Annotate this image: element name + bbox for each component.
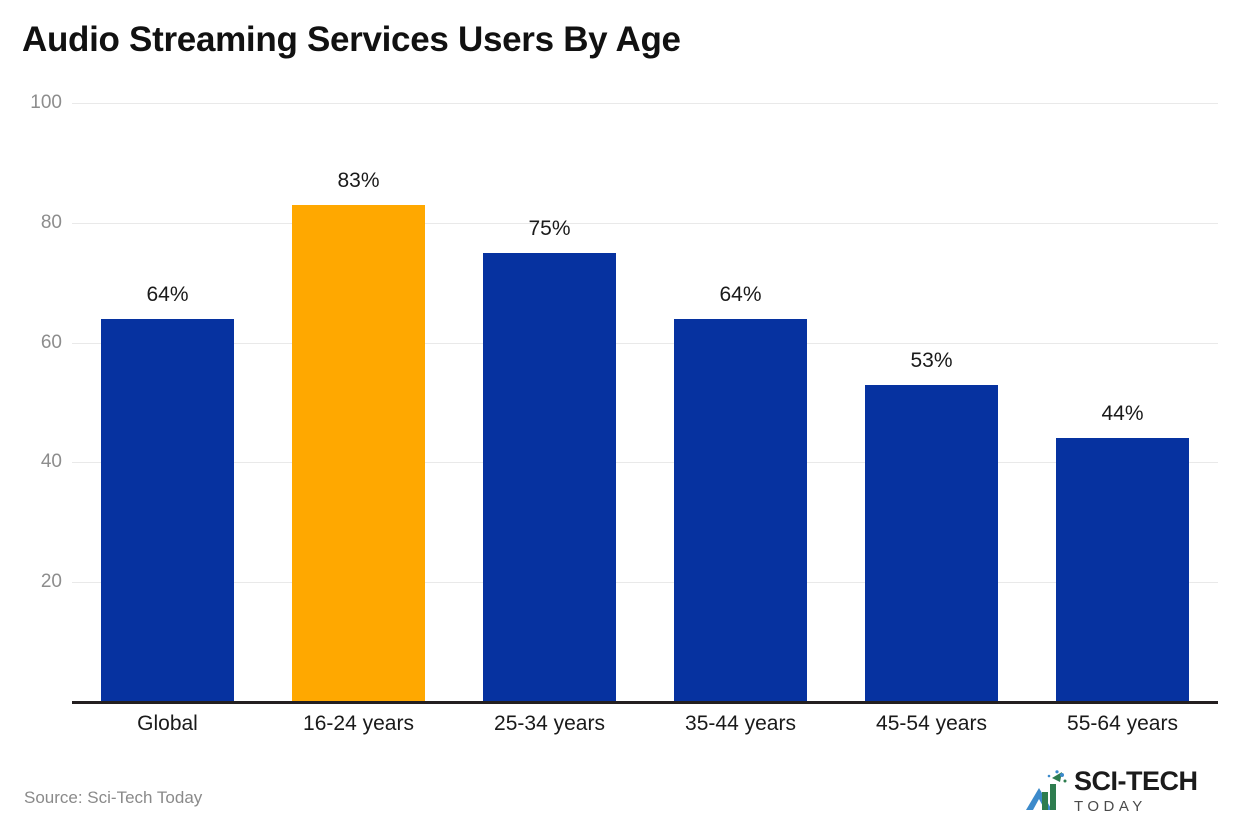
bar[interactable] <box>292 205 425 702</box>
x-tick-label: 35-44 years <box>645 712 836 736</box>
bar[interactable] <box>1056 438 1189 702</box>
mountain-chart-logo-icon <box>1022 770 1070 814</box>
bar[interactable] <box>483 253 616 702</box>
x-tick-label: Global <box>72 712 263 736</box>
bar-value-label: 64% <box>719 283 761 307</box>
bar-value-label: 44% <box>1101 402 1143 426</box>
logo-sub-text: TODAY <box>1074 799 1198 814</box>
x-tick-label: 25-34 years <box>454 712 645 736</box>
x-tick-label: 45-54 years <box>836 712 1027 736</box>
source-note: Source: Sci-Tech Today <box>24 788 202 808</box>
sci-tech-today-logo: SCI-TECH TODAY <box>1022 766 1198 820</box>
bar-value-label: 83% <box>337 169 379 193</box>
chart-title: Audio Streaming Services Users By Age <box>22 20 681 60</box>
y-tick-label: 100 <box>6 92 62 114</box>
bar-value-label: 53% <box>910 349 952 373</box>
y-axis: 10080604020 <box>0 96 62 702</box>
y-tick-label: 80 <box>6 212 62 234</box>
bars-layer: 64%83%75%64%53%44% <box>72 96 1218 702</box>
bar-group: 75% <box>483 96 616 702</box>
bar[interactable] <box>674 319 807 702</box>
bar[interactable] <box>865 385 998 702</box>
bar-group: 44% <box>1056 96 1189 702</box>
logo-main-text: SCI-TECH <box>1074 768 1198 795</box>
x-tick-label: 16-24 years <box>263 712 454 736</box>
bar-group: 64% <box>101 96 234 702</box>
y-tick-label: 20 <box>6 571 62 593</box>
bar-group: 64% <box>674 96 807 702</box>
bar[interactable] <box>101 319 234 702</box>
bar-value-label: 75% <box>528 217 570 241</box>
x-axis-labels: Global16-24 years25-34 years35-44 years4… <box>72 712 1218 748</box>
bar-group: 53% <box>865 96 998 702</box>
x-axis-line <box>72 701 1218 704</box>
bar-value-label: 64% <box>146 283 188 307</box>
y-tick-label: 40 <box>6 451 62 473</box>
y-tick-label: 60 <box>6 332 62 354</box>
bar-group: 83% <box>292 96 425 702</box>
x-tick-label: 55-64 years <box>1027 712 1218 736</box>
chart-container: Audio Streaming Services Users By Age 10… <box>0 0 1240 834</box>
